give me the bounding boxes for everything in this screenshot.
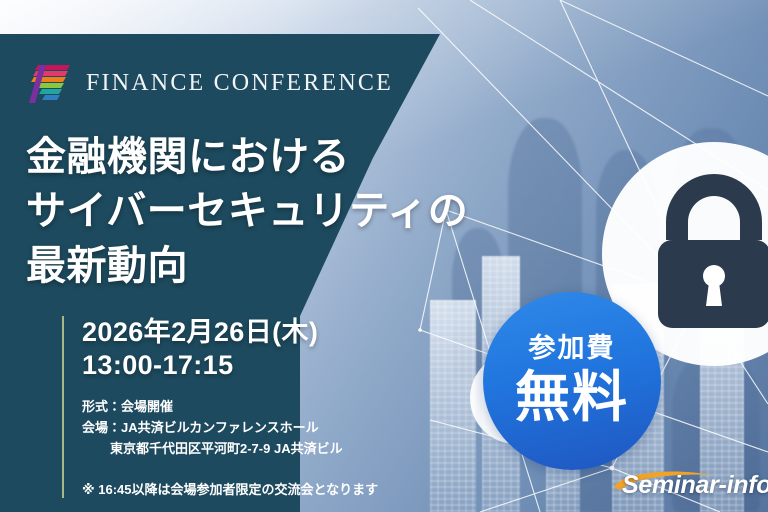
provider-name: Seminar-info bbox=[622, 471, 768, 500]
venue-hall: 会場：JA共済ビルカンファレンスホール bbox=[82, 417, 422, 438]
event-note: ※ 16:45以降は会場参加者限定の交流会となります bbox=[82, 479, 422, 498]
event-format: 形式：会場開催 bbox=[82, 396, 422, 417]
event-time: 13:00-17:15 bbox=[82, 349, 422, 382]
badge-value: 無料 bbox=[515, 368, 629, 427]
status-badge: 参加費 無料 bbox=[483, 292, 661, 470]
page-title: 金融機関における サイバーセキュリティの 最新動向 bbox=[26, 130, 456, 293]
event-details: 2026年2月26日(木) 13:00-17:15 形式：会場開催 会場：JA共… bbox=[62, 316, 422, 498]
conference-banner: FINANCE CONFERENCE 金融機関における サイバーセキュリティの … bbox=[0, 0, 768, 512]
headline-line-1: 金融機関における bbox=[26, 130, 456, 184]
venue-block: 形式：会場開催 会場：JA共済ビルカンファレンスホール 東京都千代田区平河町2-… bbox=[82, 396, 422, 459]
venue-address: 東京都千代田区平河町2-7-9 JA共済ビル bbox=[82, 438, 422, 459]
finance-conference-logo-mark bbox=[26, 62, 72, 104]
brand-lockup: FINANCE CONFERENCE bbox=[26, 62, 393, 104]
brand-name: FINANCE CONFERENCE bbox=[86, 70, 393, 97]
headline-line-2: サイバーセキュリティの bbox=[26, 184, 456, 238]
event-date: 2026年2月26日(木) bbox=[82, 316, 422, 349]
badge-label: 参加費 bbox=[529, 335, 616, 362]
headline-line-3: 最新動向 bbox=[26, 239, 456, 293]
seminar-info-logo[interactable]: Seminar-info bbox=[608, 466, 760, 506]
